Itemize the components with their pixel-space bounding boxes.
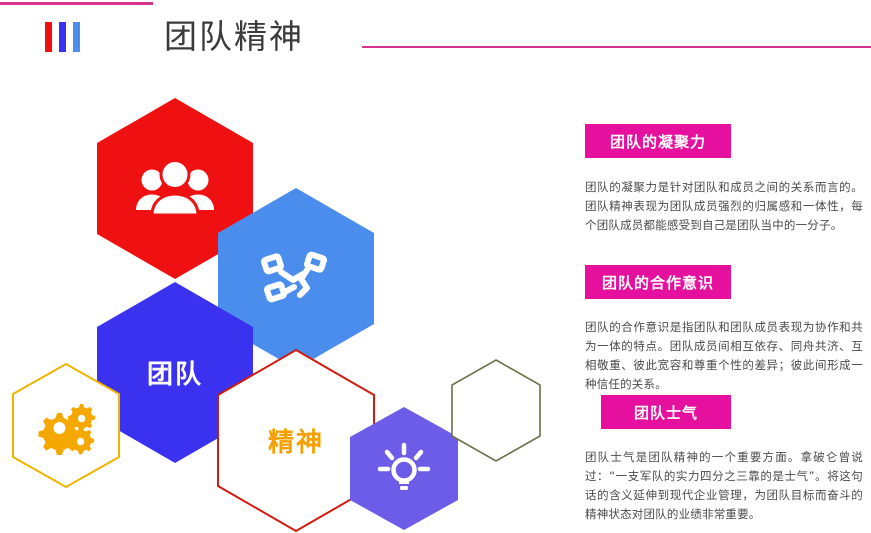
hex-bulb-shape: [348, 405, 460, 533]
accent-bar-red: [45, 22, 52, 52]
hex-bulb[interactable]: [348, 405, 460, 533]
header-accent-bars: [45, 22, 80, 52]
section-body-cooperation: 团队的合作意识是指团队和团队成员表现为协作和共为一体的特点。团队成员间相互依存、…: [585, 318, 863, 394]
accent-bar-indigo: [59, 22, 66, 52]
hex-gears[interactable]: [11, 362, 121, 490]
content-panel: 团队的凝聚力 团队的凝聚力是针对团队和成员之间的关系而言的。团队精神表现为团队成…: [585, 0, 871, 526]
hex-empty[interactable]: [450, 358, 542, 463]
section-body-cohesion: 团队的凝聚力是针对团队和成员之间的关系而言的。团队精神表现为团队成员强烈的归属感…: [585, 178, 863, 235]
header-rule-top-left: [0, 2, 153, 5]
hex-empty-shape: [450, 358, 542, 463]
section-body-morale: 团队士气是团队精神的一个重要方面。拿破仑曾说过：“一支军队的实力四分之三靠的是士…: [585, 448, 863, 524]
hexagon-cluster: 团队 精神: [0, 90, 580, 526]
hex-gears-shape: [11, 362, 121, 490]
section-badge-cohesion[interactable]: 团队的凝聚力: [585, 124, 731, 158]
accent-bar-blue: [73, 22, 80, 52]
page-title: 团队精神: [164, 18, 304, 56]
section-badge-morale[interactable]: 团队士气: [601, 395, 731, 429]
section-badge-cooperation[interactable]: 团队的合作意识: [585, 265, 731, 299]
